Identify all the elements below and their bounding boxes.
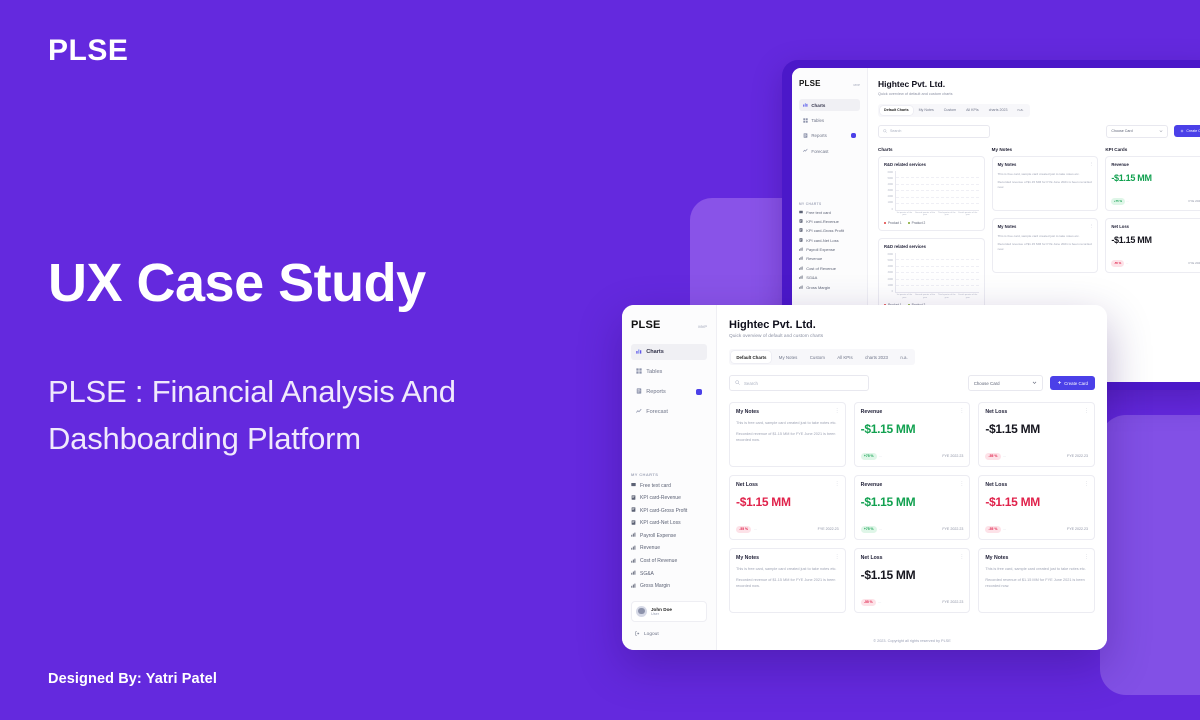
x-tick-labels: 1st quarter of the year Second quarter o… [895,212,979,217]
kpi-dots: ... [1003,527,1006,531]
y-tick: 5000 [888,177,893,180]
note-line-1: This is free card, sample card created j… [736,567,839,573]
chevron-down-icon [1159,129,1163,134]
column-headers: Charts My Notes KPI Cards [878,147,1200,152]
tab-default-charts[interactable]: Default Charts [731,351,771,362]
kpi-dots: ... [878,600,881,604]
sidebar-chart-list: Free text card KPI card-Revenue KPI card… [799,210,860,290]
chart-card[interactable]: R&D related services 6000 5000 4000 3000… [878,156,985,231]
sidebar-logo: PLSE [799,79,821,88]
list-item[interactable]: Revenue [799,256,860,261]
company-title: Hightec Pvt. Ltd. [878,79,1200,89]
note-line-1: This is free card, sample card created j… [998,172,1093,177]
tab-na[interactable]: n.a. [895,351,912,362]
main-content: Hightec Pvt. Ltd. Quick overview of defa… [717,305,1107,650]
list-item-label: Payroll Expense [640,533,676,539]
brand-logo: PLSE [48,34,128,68]
y-tick: 0 [892,290,893,293]
kpi-card[interactable]: ⋮ Revenue -$1.15 MM +75 % ... FYE 2022.2… [854,475,971,540]
note-card-title: My Notes [736,409,839,415]
text-card-icon [799,210,803,215]
chart-card[interactable]: R&D related services 6000 5000 4000 3000… [878,238,985,313]
x-tick: 1st quarter of the year [895,294,914,299]
sidebar-logo: PLSE [631,319,661,331]
kpi-period: FYE 2022.23 [818,527,839,531]
status-badge: -55 % [861,599,876,607]
status-badge: -55 % [985,453,1000,461]
tab-my-notes[interactable]: My Notes [915,106,938,115]
list-item[interactable]: KPI card-Revenue [631,495,707,502]
note-card-title: My Notes [998,224,1093,229]
y-tick: 5000 [888,259,893,262]
sidebar-nav: Charts Tables Reports Forecast [631,344,707,420]
bar-chart-icon [631,532,636,539]
kpi-value: -$1.15 MM [736,495,839,509]
note-card[interactable]: ⋮ My Notes This is free card, sample car… [992,156,1099,211]
create-card-button[interactable]: Create Card [1174,125,1200,137]
plot-area [895,253,979,293]
legend-label: Product 2 [912,221,926,225]
sidebar-item-label: Forecast [646,409,668,415]
create-card-label: Create Card [1064,381,1088,386]
kpi-period: FYE 2022.23 [1188,261,1200,265]
sidebar-item-label: Reports [811,133,826,138]
tab-bar: Default Charts My Notes Custom All KPIs … [878,104,1030,117]
toolbar: Search Choose Card Create Card [729,375,1095,391]
kpi-period: FYE 2022.23 [942,454,963,458]
list-item[interactable]: SG&A [631,570,707,577]
note-line-2: Recorded revenue of $1.15 MM for FYE Jun… [998,180,1093,189]
forecast-icon [636,408,642,416]
kpi-card-icon [631,495,636,502]
x-tick: Third quarter of the year [936,212,957,217]
x-tick: Fourth quarter of the year [957,212,979,217]
sidebar-item-label: Tables [811,118,824,123]
forecast-icon [803,148,808,154]
list-item[interactable]: KPI card-Gross Profit [631,507,707,514]
sidebar-item-forecast[interactable]: Forecast [631,404,707,420]
bar-chart-icon [631,558,636,565]
text-card-icon [631,482,636,489]
kebab-menu-icon[interactable]: ⋮ [959,481,964,487]
sidebar-section-title: MY CHARTS [631,472,707,477]
tab-all-kpis[interactable]: All KPIs [832,351,857,362]
sidebar-brand: PLSE MVP [799,79,860,88]
kpi-period: FYE 2022.23 [1067,527,1088,531]
list-item[interactable]: Revenue [631,545,707,552]
create-card-button[interactable]: Create Card [1050,376,1095,390]
list-item-label: KPI card-Gross Profit [806,228,844,233]
status-badge: -55 % [736,526,751,534]
tables-icon [636,368,642,376]
kpi-card[interactable]: ⋮ Net Loss -$1.15 MM -55 % ... FYE 2022.… [978,475,1095,540]
list-item-label: Revenue [806,256,822,261]
y-tick: 1000 [888,201,893,204]
search-icon [735,380,740,386]
note-card[interactable]: ⋮ My Notes This is free card, sample car… [992,218,1099,273]
kpi-period: FYE 2022.23 [1067,454,1088,458]
sidebar-item-label: Forecast [811,149,828,154]
kpi-value: -$1.15 MM [1111,235,1200,245]
reports-icon [636,388,642,396]
kpi-footer: +75 % ... FYE 2022.23 [861,526,964,534]
sidebar-item-reports[interactable]: Reports [631,384,707,400]
search-icon [883,129,887,134]
tab-charts-2023[interactable]: charts 2023 [985,106,1012,115]
kpi-card-icon [631,520,636,527]
y-tick: 3000 [888,271,893,274]
kpi-card[interactable]: ⋮ Net Loss -$1.15 MM -55 % ... FYE 2022.… [854,548,971,613]
list-item-label: Free text card [640,483,671,489]
kpi-card-title: Net Loss [1111,224,1200,229]
kebab-menu-icon[interactable]: ⋮ [959,408,964,414]
sidebar-item-label: Charts [811,103,825,108]
note-line-1: This is free card, sample card created j… [736,421,839,427]
note-line-2: Recorded revenue of $1.15 MM for FYE Jun… [736,578,839,590]
kpi-footer: +75 % ... FYE 2022.23 [861,453,964,461]
choose-card-value: Choose Card [1111,129,1132,133]
list-item-label: Cost of Revenue [640,558,677,564]
sidebar-brand: PLSE MVP [631,319,707,331]
x-tick: Second quarter of the year [914,212,937,217]
kpi-footer: -55 % ... FYE 2022.23 [861,599,964,607]
list-item[interactable]: Free text card [799,210,860,215]
list-item[interactable]: Cost of Revenue [631,558,707,565]
kpi-card-icon [631,507,636,514]
chevron-down-icon [1032,380,1037,386]
bar-chart-icon [631,570,636,577]
sidebar-item-tables[interactable]: Tables [799,114,860,126]
front-dashboard-mockup: PLSE MVP Charts Tables Reports Forecast … [622,305,1107,650]
list-item-label: Cost of Revenue [806,266,836,271]
note-line-2: Recorded revenue of $1.15 MM for FYE Jun… [998,242,1093,251]
charts-icon [636,348,642,356]
kpi-period: FYE 2022.23 [1188,199,1200,203]
company-title: Hightec Pvt. Ltd. [729,319,1095,331]
kpi-card[interactable]: ⋮ Revenue -$1.15 MM +75 % ... FYE 2022.2… [854,402,971,467]
kebab-menu-icon[interactable]: ⋮ [1089,223,1093,228]
sidebar-footer: John Doe User Logout [631,590,707,642]
sidebar-item-label: Charts [646,349,664,355]
chart-title: R&D related services [884,162,979,167]
kpi-card-icon [799,219,803,224]
sidebar: PLSE MVP Charts Tables Reports Forecast … [622,305,717,650]
list-item[interactable]: Gross Margin [799,285,860,290]
tab-my-notes[interactable]: My Notes [774,351,803,362]
kpi-dots: ... [1127,199,1130,203]
kpi-dots: ... [1003,454,1006,458]
footer-copyright: © 2023. Copyright all rights reserved by… [729,639,1095,643]
kpi-dots: ... [754,527,757,531]
logout-button[interactable]: Logout [631,627,707,642]
sidebar-item-label: Reports [646,389,666,395]
x-tick: Fourth quarter of the year [957,294,979,299]
sidebar-item-tables[interactable]: Tables [631,364,707,380]
logout-icon [635,631,640,638]
kebab-menu-icon[interactable]: ⋮ [835,408,840,414]
status-badge: +75 % [1111,198,1124,205]
search-placeholder: Search [890,129,901,133]
tab-charts-2023[interactable]: charts 2023 [860,351,893,362]
choose-card-select[interactable]: Choose Card [968,375,1043,391]
y-tick: 4000 [888,265,893,268]
decorative-block-right [1100,415,1200,695]
kebab-menu-icon[interactable]: ⋮ [835,481,840,487]
kpi-card[interactable]: ⋮ Net Loss -$1.15 MM -55 % ... FYE 2022.… [978,402,1095,467]
x-tick-labels: 1st quarter of the year Second quarter o… [895,294,979,299]
logout-label: Logout [644,632,659,637]
reports-icon [803,133,808,139]
kpi-value: -$1.15 MM [985,422,1088,436]
tab-default-charts[interactable]: Default Charts [880,106,913,115]
note-card[interactable]: ⋮ My Notes This is free card, sample car… [729,402,846,467]
kpi-value: -$1.15 MM [861,422,964,436]
sidebar-logo-sub: MVP [853,83,860,87]
kebab-menu-icon[interactable]: ⋮ [835,554,840,560]
note-line-2: Recorded revenue of $1.15 MM for FYE Jun… [736,432,839,444]
sidebar-section-title: MY CHARTS [799,202,860,206]
list-item-label: KPI card-Net Loss [640,520,681,526]
plus-icon [1180,129,1184,134]
list-item[interactable]: Gross Margin [631,583,707,590]
bar-chart-icon [799,275,803,280]
list-item-label: Free text card [806,210,831,215]
list-item[interactable]: KPI card-Net Loss [799,238,860,243]
list-item-label: SG&A [640,571,654,577]
bar-chart-icon [799,247,803,252]
kpi-card-title: Net Loss [861,555,964,561]
kpi-dots: ... [879,527,882,531]
kpi-period: FYE 2022.23 [942,600,963,604]
y-tick: 6000 [888,253,893,256]
list-item-label: Payroll Expense [806,247,835,252]
note-line-1: This is free card, sample card created j… [985,567,1088,573]
status-badge: +75 % [861,526,877,534]
kpi-card-title: Net Loss [985,482,1088,488]
legend-label: Product 1 [888,221,902,225]
list-item[interactable]: Payroll Expense [631,532,707,539]
y-tick: 0 [892,208,893,211]
note-card-title: My Notes [998,162,1093,167]
sidebar-chart-list: Free text card KPI card-Revenue KPI card… [631,482,707,590]
sidebar-nav: Charts Tables Reports Forecast [799,99,860,158]
kpi-card-icon [799,228,803,233]
user-profile[interactable]: John Doe User [631,601,707,622]
y-tick: 2000 [888,278,893,281]
kpi-card-title: Net Loss [985,409,1088,415]
chart-title: R&D related services [884,244,979,249]
note-card-title: My Notes [736,555,839,561]
cards-grid: ⋮ My Notes This is free card, sample car… [729,402,1095,613]
charts-icon [803,102,808,108]
kpi-footer: -55 % ... FYE 2022.23 [1111,260,1200,267]
tab-custom[interactable]: Custom [940,106,960,115]
reports-badge [851,133,856,138]
company-subtitle: Quick overview of default and custom cha… [729,334,1095,339]
cards-grid: R&D related services 6000 5000 4000 3000… [878,156,1200,313]
user-role: User [651,612,672,616]
kpi-card[interactable]: ⋮ Revenue -$1.15 MM +75 % ... FYE 2022.2… [1105,156,1200,211]
kebab-menu-icon[interactable]: ⋮ [1084,481,1089,487]
choose-card-value: Choose Card [974,381,1000,386]
note-card[interactable]: ⋮ My Notes This is free card, sample car… [978,548,1095,613]
x-tick: Second quarter of the year [914,294,937,299]
toolbar: Search Choose Card Create Card [878,125,1200,138]
list-item-label: KPI card-Revenue [640,495,681,501]
bar-chart-icon [799,256,803,261]
sidebar-item-reports[interactable]: Reports [799,130,860,142]
kebab-menu-icon[interactable]: ⋮ [1089,161,1093,166]
list-item-label: KPI card-Revenue [806,219,839,224]
bar-chart-icon [631,545,636,552]
sidebar-logo-sub: MVP [698,324,707,329]
chart-legend: Product 1 Product 2 [884,221,979,225]
search-input[interactable]: Search [729,375,869,391]
create-card-label: Create Card [1186,129,1200,133]
designer-credit: Designed By: Yatri Patel [48,671,217,687]
kpi-card-title: Revenue [861,409,964,415]
list-item[interactable]: Cost of Revenue [799,266,860,271]
bar-chart-icon [799,266,803,271]
kpi-card[interactable]: ⋮ Net Loss -$1.15 MM -55 % ... FYE 2022.… [729,475,846,540]
company-subtitle: Quick overview of default and custom cha… [878,92,1200,96]
kebab-menu-icon[interactable]: ⋮ [1084,408,1089,414]
sidebar-item-charts[interactable]: Charts [631,344,707,360]
kpi-dots: ... [879,454,882,458]
list-item-label: KPI card-Gross Profit [640,508,687,514]
search-placeholder: Search [744,381,758,386]
note-line-2: Recorded revenue of $1.15 MM for FYE Jun… [985,578,1088,590]
kpi-value: -$1.15 MM [861,495,964,509]
kpi-footer: -55 % ... FYE 2022.23 [985,453,1088,461]
list-item[interactable]: KPI card-Net Loss [631,520,707,527]
choose-card-select[interactable]: Choose Card [1106,125,1168,138]
kpi-footer: -55 % ... FYE 2022.23 [736,526,839,534]
list-item-label: KPI card-Net Loss [806,238,838,243]
list-item[interactable]: Payroll Expense [799,247,860,252]
kpi-footer: -55 % ... FYE 2022.23 [985,526,1088,534]
y-tick: 3000 [888,189,893,192]
x-tick: Third quarter of the year [936,294,957,299]
tab-na[interactable]: n.a. [1014,106,1028,115]
sidebar-item-label: Tables [646,369,662,375]
plus-icon [1057,380,1062,386]
list-item-label: Revenue [640,545,660,551]
status-badge: -55 % [1111,260,1124,267]
tab-all-kpis[interactable]: All KPIs [962,106,983,115]
list-item[interactable]: KPI card-Revenue [799,219,860,224]
column-title-my-notes: My Notes [992,147,1099,152]
page-title: UX Case Study [48,256,426,310]
list-item[interactable]: SG&A [799,275,860,280]
note-line-1: This is free card, sample card created j… [998,234,1093,239]
bar-chart-icon [799,285,803,290]
list-item-label: Gross Margin [640,583,670,589]
kpi-card-title: Revenue [861,482,964,488]
kpi-dots: ... [1126,261,1129,265]
kpi-card-title: Net Loss [736,482,839,488]
kpi-value: -$1.15 MM [1111,173,1200,183]
y-tick: 2000 [888,195,893,198]
status-badge: +75 % [861,453,877,461]
kebab-menu-icon[interactable]: ⋮ [1084,554,1089,560]
x-tick: 1st quarter of the year [895,212,914,217]
kpi-footer: +75 % ... FYE 2022.23 [1111,198,1200,205]
kpi-period: FYE 2022.23 [942,527,963,531]
note-card-title: My Notes [985,555,1088,561]
kpi-card[interactable]: ⋮ Net Loss -$1.15 MM -55 % ... FYE 2022.… [1105,218,1200,273]
page-subtitle: PLSE : Financial Analysis And Dashboardi… [48,368,608,462]
y-tick: 6000 [888,171,893,174]
sidebar-item-charts[interactable]: Charts [799,99,860,111]
kebab-menu-icon[interactable]: ⋮ [959,554,964,560]
sidebar-item-forecast[interactable]: Forecast [799,145,860,157]
tables-icon [803,118,808,124]
tab-bar: Default Charts My Notes Custom All KPIs … [729,349,915,365]
search-input[interactable]: Search [878,125,990,138]
column-title-kpi-cards: KPI Cards [1105,147,1200,152]
y-tick: 4000 [888,183,893,186]
kpi-value: -$1.15 MM [861,568,964,582]
status-badge: -55 % [985,526,1000,534]
list-item-label: SG&A [806,275,817,280]
list-item[interactable]: Free text card [631,482,707,489]
tab-custom[interactable]: Custom [805,351,830,362]
plot-area [895,171,979,211]
column-title-charts: Charts [878,147,985,152]
list-item[interactable]: KPI card-Gross Profit [799,228,860,233]
y-tick: 1000 [888,284,893,287]
avatar [636,606,647,617]
kpi-card-title: Revenue [1111,162,1200,167]
bar-chart-icon [631,583,636,590]
kpi-card-icon [799,238,803,243]
hero-panel: PLSE UX Case Study PLSE : Financial Anal… [48,0,648,720]
reports-badge [696,389,702,395]
list-item-label: Gross Margin [806,285,830,290]
note-card[interactable]: ⋮ My Notes This is free card, sample car… [729,548,846,613]
kpi-value: -$1.15 MM [985,495,1088,509]
